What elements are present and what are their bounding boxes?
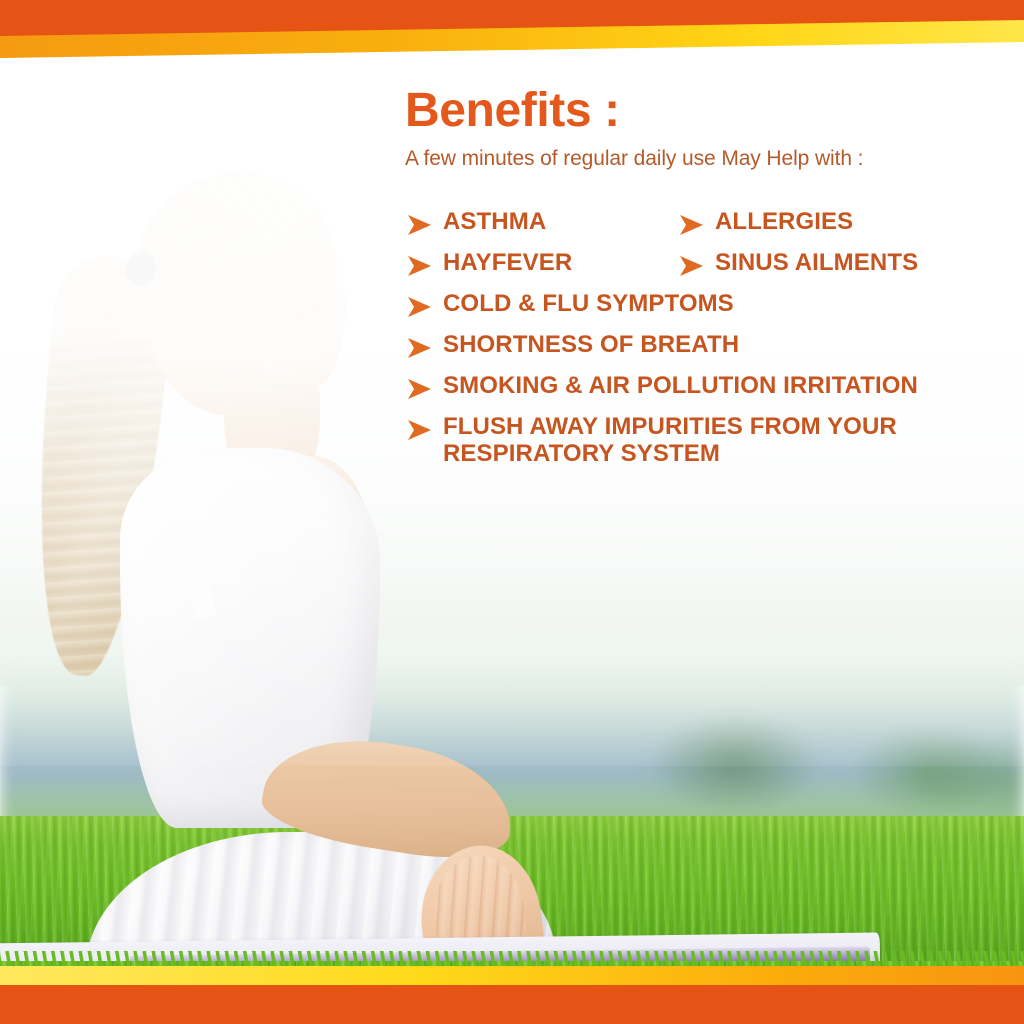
arrowhead-right-icon bbox=[405, 213, 435, 237]
benefit-row: ASTHMA ALLERGIES bbox=[405, 209, 1005, 237]
benefit-row: SMOKING & AIR POLLUTION IRRITATION bbox=[405, 373, 1005, 401]
list-item: SHORTNESS OF BREATH bbox=[405, 332, 739, 360]
page-title: Benefits : bbox=[405, 86, 1005, 137]
benefits-poster: Benefits : A few minutes of regular dail… bbox=[0, 0, 1024, 1024]
list-item: ASTHMA bbox=[405, 209, 677, 237]
benefits-text-panel: Benefits : A few minutes of regular dail… bbox=[405, 86, 1005, 481]
benefit-row: HAYFEVER SINUS AILMENTS bbox=[405, 250, 1005, 278]
bottom-gradient-stripe bbox=[0, 966, 1024, 986]
hair bbox=[136, 172, 336, 322]
benefits-list: ASTHMA ALLERGIES HAYFEVER bbox=[405, 209, 1005, 468]
page-subtitle: A few minutes of regular daily use May H… bbox=[405, 147, 1005, 171]
arrowhead-right-icon bbox=[405, 295, 435, 319]
arrowhead-right-icon bbox=[677, 213, 707, 237]
bottom-orange-band bbox=[0, 985, 1024, 1024]
list-item: FLUSH AWAY IMPURITIES FROM YOUR RESPIRAT… bbox=[405, 414, 963, 468]
arrowhead-right-icon bbox=[677, 254, 707, 278]
benefit-label: COLD & FLU SYMPTOMS bbox=[443, 291, 734, 318]
list-item: COLD & FLU SYMPTOMS bbox=[405, 291, 734, 319]
arrowhead-right-icon bbox=[405, 377, 435, 401]
arrowhead-right-icon bbox=[405, 336, 435, 360]
list-item: SMOKING & AIR POLLUTION IRRITATION bbox=[405, 373, 918, 401]
benefit-row: FLUSH AWAY IMPURITIES FROM YOUR RESPIRAT… bbox=[405, 414, 1005, 468]
arrowhead-right-icon bbox=[405, 254, 435, 278]
top-border-band bbox=[0, 0, 1024, 58]
benefit-label: HAYFEVER bbox=[443, 250, 572, 277]
list-item: SINUS AILMENTS bbox=[677, 250, 918, 278]
list-item: ALLERGIES bbox=[677, 209, 853, 237]
benefit-label: SINUS AILMENTS bbox=[715, 250, 918, 277]
benefit-row: COLD & FLU SYMPTOMS bbox=[405, 291, 1005, 319]
benefit-label: FLUSH AWAY IMPURITIES FROM YOUR RESPIRAT… bbox=[443, 414, 963, 468]
benefit-label: SMOKING & AIR POLLUTION IRRITATION bbox=[443, 373, 918, 400]
list-item: HAYFEVER bbox=[405, 250, 677, 278]
benefit-label: ASTHMA bbox=[443, 209, 546, 236]
benefit-label: ALLERGIES bbox=[715, 209, 853, 236]
bottom-border-band bbox=[0, 966, 1024, 1024]
benefit-label: SHORTNESS OF BREATH bbox=[443, 332, 739, 359]
arrowhead-right-icon bbox=[405, 418, 435, 442]
benefit-row: SHORTNESS OF BREATH bbox=[405, 332, 1005, 360]
